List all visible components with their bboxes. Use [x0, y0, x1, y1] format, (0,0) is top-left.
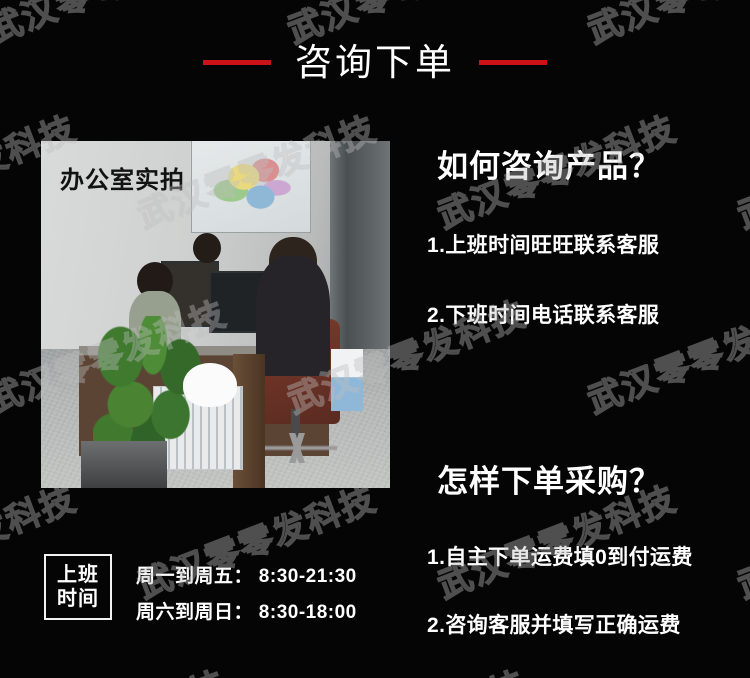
- weekend-days-label: 周六到周日：: [136, 602, 253, 623]
- page-title: 咨询下单: [295, 44, 455, 81]
- promo-banner: 办公室实拍 咨询下单 如何咨询产品？ 1.上班时间旺旺联系客服 2.下班时间电话…: [0, 0, 750, 678]
- office-photo: 办公室实拍: [41, 141, 390, 488]
- business-hours-row-weekday: 周一到周五： 8:30-21:30: [136, 561, 357, 588]
- banner-header: 咨询下单: [0, 34, 750, 90]
- watermark-text: 武汉零零发科技: [730, 101, 750, 237]
- photo-person-background-head: [193, 233, 221, 263]
- consult-step-2: 2.下班时间电话联系客服: [427, 299, 659, 329]
- weekday-days-label: 周一到周五：: [136, 566, 253, 587]
- watermark-text: 武汉零零发科技: [580, 656, 750, 678]
- photo-safety-helmet: [183, 363, 237, 407]
- order-step-1: 1.自主下单运费填0到付运费: [427, 541, 693, 571]
- photo-person-right-body: [256, 256, 330, 376]
- photo-chair-towel: [331, 349, 363, 411]
- business-hours-row-weekend: 周六到周日： 8:30-18:00: [136, 597, 357, 624]
- watermark-text: 武汉零零发科技: [0, 656, 232, 678]
- header-rule-left: [203, 60, 271, 65]
- business-hours-badge-line-2: 时间: [57, 587, 99, 611]
- section-heading-order: 怎样下单采购？: [437, 456, 661, 501]
- weekday-time-value: 8:30-21:30: [259, 566, 357, 587]
- business-hours-badge: 上班 时间: [44, 554, 112, 620]
- watermark-text: 武汉零零发科技: [280, 656, 533, 678]
- photo-china-map: [191, 141, 311, 233]
- photo-cabinet: [81, 441, 167, 488]
- photo-label: 办公室实拍: [60, 160, 185, 195]
- photo-chair-base: [257, 433, 337, 463]
- business-hours-badge-line-1: 上班: [57, 563, 99, 587]
- order-step-2: 2.咨询客服并填写正确运费: [427, 609, 681, 639]
- header-rule-right: [479, 60, 547, 65]
- consult-step-1: 1.上班时间旺旺联系客服: [427, 229, 659, 259]
- weekend-time-value: 8:30-18:00: [259, 602, 357, 623]
- section-heading-consult: 如何咨询产品？: [437, 141, 661, 186]
- watermark-text: 武汉零零发科技: [730, 471, 750, 607]
